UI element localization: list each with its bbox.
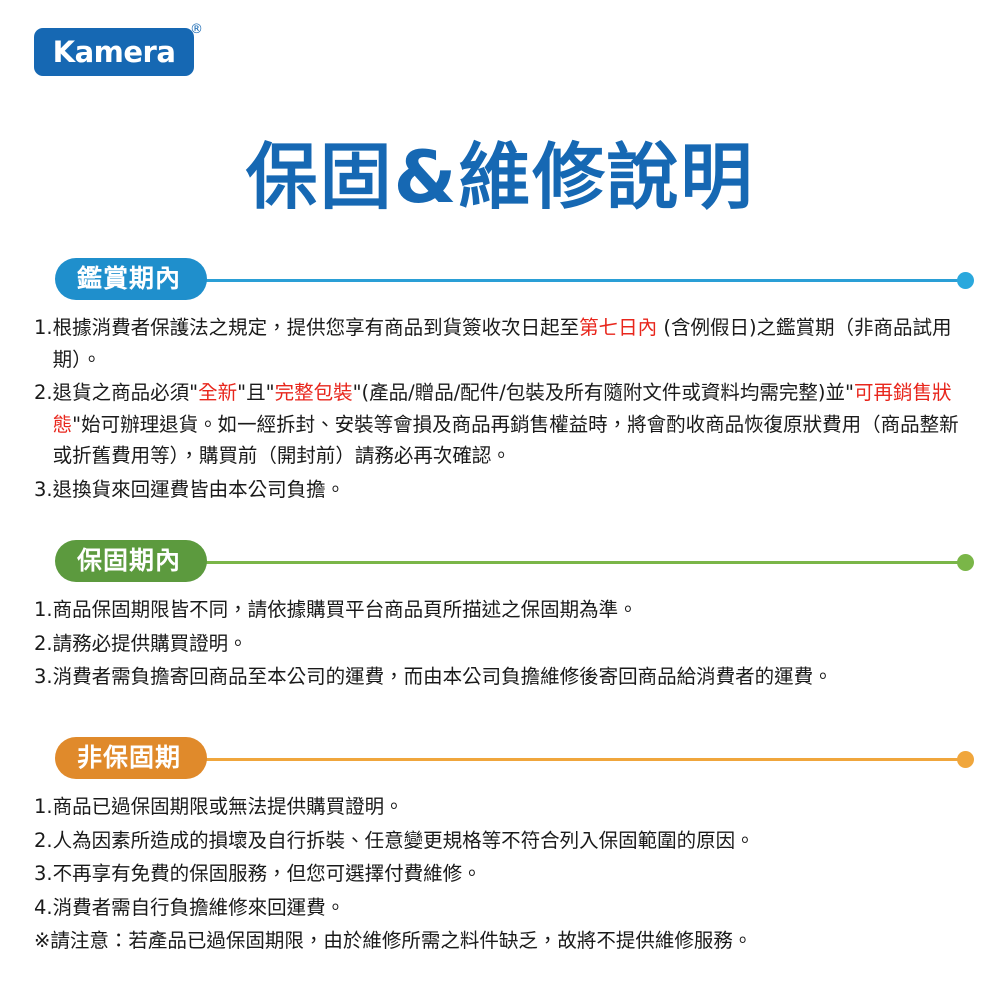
section-label: 保固期內 [55,540,207,582]
list-item-number: 2. [34,825,53,857]
plain-text: 消費者需負擔寄回商品至本公司的運費，而由本公司負擔維修後寄回商品給消費者的運費。 [53,665,833,688]
highlighted-text: 全新 [198,381,237,404]
section-note: ※請注意：若產品已過保固期限，由於維修所需之料件缺乏，故將不提供維修服務。 [34,925,970,957]
section-out-of-warranty: 非保固期 1. 商品已過保固期限或無法提供購買證明。 2. 人為因素所造成的損壞… [0,737,1000,957]
list-item-text: 不再享有免費的保固服務，但您可選擇付費維修。 [53,858,970,890]
plain-text: 商品保固期限皆不同，請依據購買平台商品頁所描述之保固期為準。 [53,598,638,621]
list-item-text: 商品保固期限皆不同，請依據購買平台商品頁所描述之保固期為準。 [53,594,970,626]
list-item: 3. 消費者需負擔寄回商品至本公司的運費，而由本公司負擔維修後寄回商品給消費者的… [34,661,970,693]
list-item-text: 人為因素所造成的損壞及自行拆裝、任意變更規格等不符合列入保固範圍的原因。 [53,825,970,857]
list-item-text: 請務必提供購買證明。 [53,628,970,660]
list-item-number: 2. [34,377,53,409]
section-header: 保固期內 [0,540,1000,584]
section-end-dot-icon [957,751,974,768]
highlighted-text: 第七日內 [579,316,657,339]
list-item-text: 消費者需負擔寄回商品至本公司的運費，而由本公司負擔維修後寄回商品給消費者的運費。 [53,661,970,693]
list-item-text: 商品已過保固期限或無法提供購買證明。 [53,791,970,823]
section-label: 非保固期 [55,737,207,779]
list-item-number: 4. [34,892,53,924]
list-item-number: 3. [34,661,53,693]
page-title: 保固&維修說明 [0,118,1000,223]
section-end-dot-icon [957,554,974,571]
list-item-number: 2. [34,628,53,660]
list-item: 2. 退貨之商品必須"全新"且"完整包裝"(產品/贈品/配件/包裝及所有隨附文件… [34,377,970,472]
list-item-text: 退換貨來回運費皆由本公司負擔。 [53,474,970,506]
section-body: 1. 商品保固期限皆不同，請依據購買平台商品頁所描述之保固期為準。 2. 請務必… [34,594,970,693]
plain-text: 退貨之商品必須" [53,381,198,404]
list-item-number: 1. [34,312,53,344]
section-label: 鑑賞期內 [55,258,207,300]
plain-text: 退換貨來回運費皆由本公司負擔。 [53,478,346,501]
plain-text: 不再享有免費的保固服務，但您可選擇付費維修。 [53,862,482,885]
plain-text: "(產品/贈品/配件/包裝及所有隨附文件或資料均需完整)並" [353,381,854,404]
section-header: 非保固期 [0,737,1000,781]
list-item-text: 根據消費者保護法之規定，提供您享有商品到貨簽收次日起至第七日內 (含例假日)之鑑… [53,312,970,375]
list-item-text: 退貨之商品必須"全新"且"完整包裝"(產品/贈品/配件/包裝及所有隨附文件或資料… [53,377,970,472]
highlighted-text: 完整包裝 [275,381,353,404]
list-item-number: 3. [34,858,53,890]
plain-text: 商品已過保固期限或無法提供購買證明。 [53,795,404,818]
list-item: 2. 人為因素所造成的損壞及自行拆裝、任意變更規格等不符合列入保固範圍的原因。 [34,825,970,857]
list-item: 3. 退換貨來回運費皆由本公司負擔。 [34,474,970,506]
logo-text: Kamera [34,28,194,76]
brand-logo: Kamera ® [34,28,214,80]
registered-trademark-icon: ® [190,22,203,37]
list-item: 1. 根據消費者保護法之規定，提供您享有商品到貨簽收次日起至第七日內 (含例假日… [34,312,970,375]
plain-text: 請務必提供購買證明。 [53,632,248,655]
section-cooling-off: 鑑賞期內 1. 根據消費者保護法之規定，提供您享有商品到貨簽收次日起至第七日內 … [0,258,1000,507]
plain-text: 消費者需自行負擔維修來回運費。 [53,896,346,919]
list-item-number: 1. [34,791,53,823]
list-item: 1. 商品已過保固期限或無法提供購買證明。 [34,791,970,823]
plain-text: "始可辦理退貨。如一經拆封、安裝等會損及商品再銷售權益時，將會酌收商品恢復原狀費… [53,413,959,468]
list-item: 2. 請務必提供購買證明。 [34,628,970,660]
section-end-dot-icon [957,272,974,289]
section-body: 1. 商品已過保固期限或無法提供購買證明。 2. 人為因素所造成的損壞及自行拆裝… [34,791,970,957]
plain-text: "且" [237,381,274,404]
section-within-warranty: 保固期內 1. 商品保固期限皆不同，請依據購買平台商品頁所描述之保固期為準。 2… [0,540,1000,695]
section-body: 1. 根據消費者保護法之規定，提供您享有商品到貨簽收次日起至第七日內 (含例假日… [34,312,970,505]
list-item-number: 3. [34,474,53,506]
list-item: 3. 不再享有免費的保固服務，但您可選擇付費維修。 [34,858,970,890]
list-item: 4. 消費者需自行負擔維修來回運費。 [34,892,970,924]
plain-text: 人為因素所造成的損壞及自行拆裝、任意變更規格等不符合列入保固範圍的原因。 [53,829,755,852]
list-item-text: 消費者需自行負擔維修來回運費。 [53,892,970,924]
section-header: 鑑賞期內 [0,258,1000,302]
list-item-number: 1. [34,594,53,626]
list-item: 1. 商品保固期限皆不同，請依據購買平台商品頁所描述之保固期為準。 [34,594,970,626]
plain-text: 根據消費者保護法之規定，提供您享有商品到貨簽收次日起至 [53,316,580,339]
